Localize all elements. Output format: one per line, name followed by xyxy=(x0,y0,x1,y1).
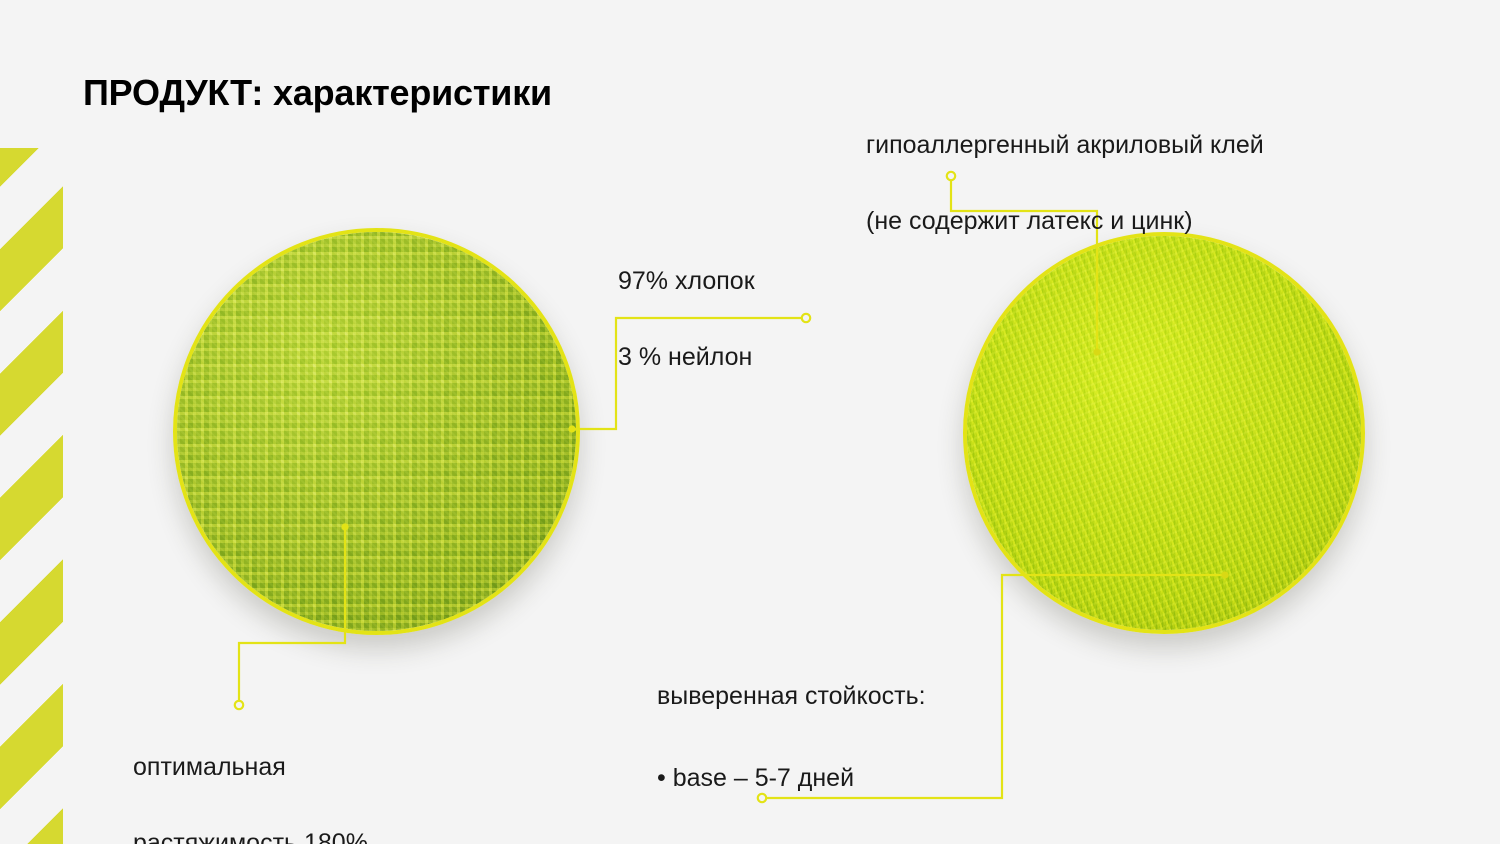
anchor-dot-durability xyxy=(1221,571,1228,578)
callout-stretch: оптимальная растяжимость 180% xyxy=(133,710,368,844)
callout-composition-line1: 97% хлопок xyxy=(618,267,755,295)
callout-durability: выверенная стойкость: • base – 5-7 дней … xyxy=(657,635,926,844)
callout-composition-line2: 3 % нейлон xyxy=(618,343,752,371)
callout-stretch-line2: растяжимость 180% xyxy=(133,829,368,844)
anchor-dot-composition xyxy=(568,425,575,432)
callout-adhesive: гипоаллергенный акриловый клей (не содер… xyxy=(866,88,1264,240)
callout-adhesive-line2: (не содержит латекс и цинк) xyxy=(866,207,1193,235)
endpoint-ring-stretch xyxy=(235,701,243,709)
anchor-dot-adhesive xyxy=(1093,348,1100,355)
connector-stretch xyxy=(239,527,345,701)
callout-durability-item: • storm – 5-9 дней xyxy=(657,840,926,844)
endpoint-ring-composition xyxy=(802,314,810,322)
anchor-dot-stretch xyxy=(341,523,348,530)
callout-composition: 97% хлопок 3 % нейлон xyxy=(618,224,755,376)
callout-durability-item: • base – 5-7 дней xyxy=(657,758,926,799)
slide-canvas: ПРОДУКТ: характеристики 97% хлопок xyxy=(0,0,1500,844)
callout-adhesive-line1: гипоаллергенный акриловый клей xyxy=(866,131,1264,159)
callout-durability-heading: выверенная стойкость: xyxy=(657,676,926,717)
callout-stretch-line1: оптимальная xyxy=(133,753,286,781)
